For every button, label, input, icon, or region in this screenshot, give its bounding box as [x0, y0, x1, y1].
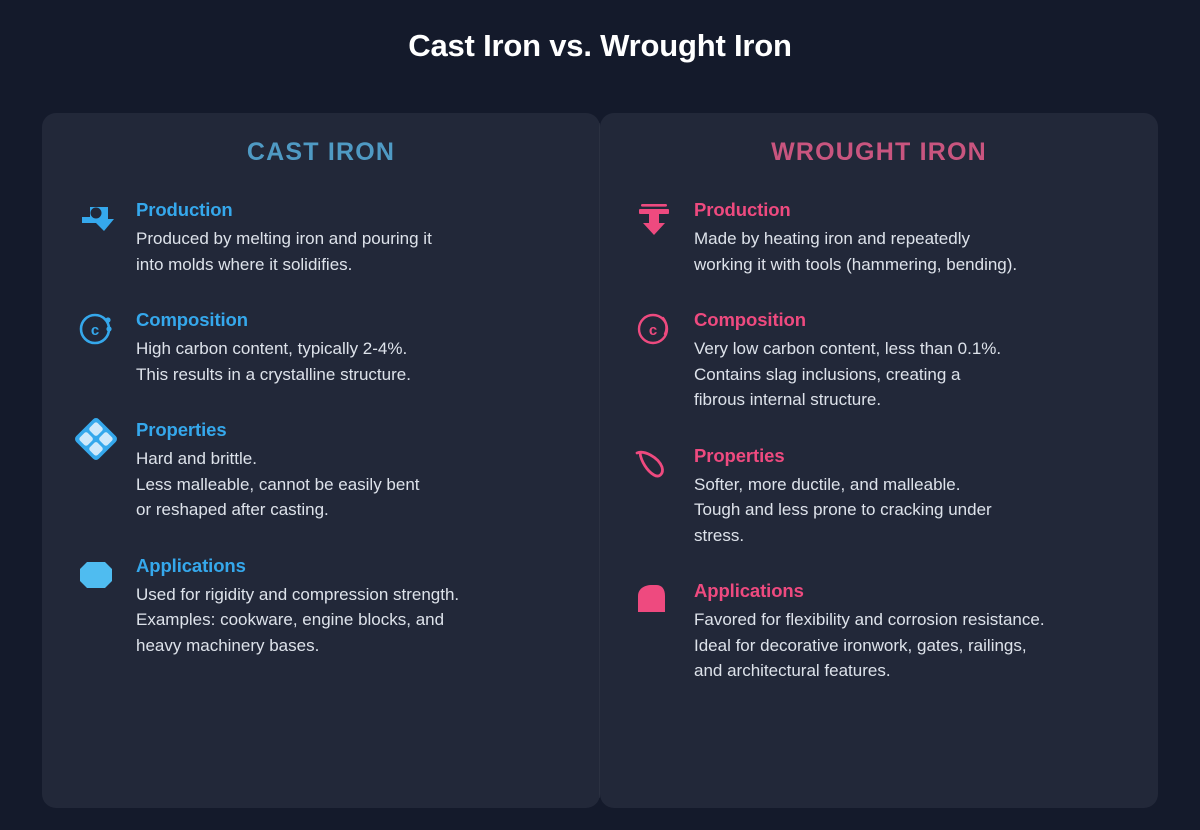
row-description: Hard and brittle. Less malleable, cannot…	[136, 446, 570, 523]
row-title: Composition	[694, 309, 1128, 331]
row-title: Production	[136, 199, 570, 221]
row-title: Production	[694, 199, 1128, 221]
row-title: Properties	[136, 419, 570, 441]
row-description: High carbon content, typically 2-4%. Thi…	[136, 336, 570, 387]
bent-loop-icon	[632, 443, 680, 491]
svg-text:c: c	[91, 322, 99, 339]
row-description: Used for rigidity and compression streng…	[136, 582, 570, 659]
row-description: Softer, more ductile, and malleable. Tou…	[694, 472, 1128, 549]
row-title: Applications	[694, 580, 1128, 602]
row-wrought-applications: Applications Favored for flexibility and…	[632, 576, 1128, 684]
row-cast-production: Production Produced by melting iron and …	[74, 195, 570, 277]
page-title: Cast Iron vs. Wrought Iron	[0, 0, 1200, 78]
octagon-cookware-icon	[74, 553, 122, 601]
row-cast-composition: c Composition High carbon content, typic…	[74, 305, 570, 387]
panel-wrought-iron: WROUGHT IRON Production Made by heating …	[600, 113, 1158, 808]
row-description: Made by heating iron and repeatedly work…	[694, 226, 1128, 277]
rows-cast-iron: Production Produced by melting iron and …	[72, 195, 570, 658]
row-wrought-properties: Properties Softer, more ductile, and mal…	[632, 441, 1128, 549]
pouring-ladle-icon	[74, 197, 122, 245]
row-title: Properties	[694, 445, 1128, 467]
crystal-lattice-icon	[74, 417, 122, 465]
row-title: Applications	[136, 555, 570, 577]
column-header-cast-iron: CAST IRON	[72, 135, 570, 169]
rows-wrought-iron: Production Made by heating iron and repe…	[630, 195, 1128, 684]
row-cast-properties: Properties Hard and brittle. Less mallea…	[74, 415, 570, 523]
arch-gate-icon	[632, 578, 680, 626]
carbon-atom-icon: c	[74, 307, 122, 355]
svg-text:c: c	[649, 322, 657, 339]
row-wrought-composition: c Composition Very low carbon content, l…	[632, 305, 1128, 413]
infographic-page: Cast Iron vs. Wrought Iron CAST IRON Pro…	[0, 0, 1200, 830]
column-header-wrought-iron: WROUGHT IRON	[630, 135, 1128, 169]
row-wrought-production: Production Made by heating iron and repe…	[632, 195, 1128, 277]
row-description: Favored for flexibility and corrosion re…	[694, 607, 1128, 684]
panel-cast-iron: CAST IRON Production Produced by melting…	[42, 113, 600, 808]
hammer-strike-icon	[632, 197, 680, 245]
row-title: Composition	[136, 309, 570, 331]
carbon-atom-icon: c	[632, 307, 680, 355]
comparison-columns: CAST IRON Production Produced by melting…	[42, 113, 1158, 808]
row-description: Produced by melting iron and pouring it …	[136, 226, 570, 277]
row-description: Very low carbon content, less than 0.1%.…	[694, 336, 1128, 413]
row-cast-applications: Applications Used for rigidity and compr…	[74, 551, 570, 659]
